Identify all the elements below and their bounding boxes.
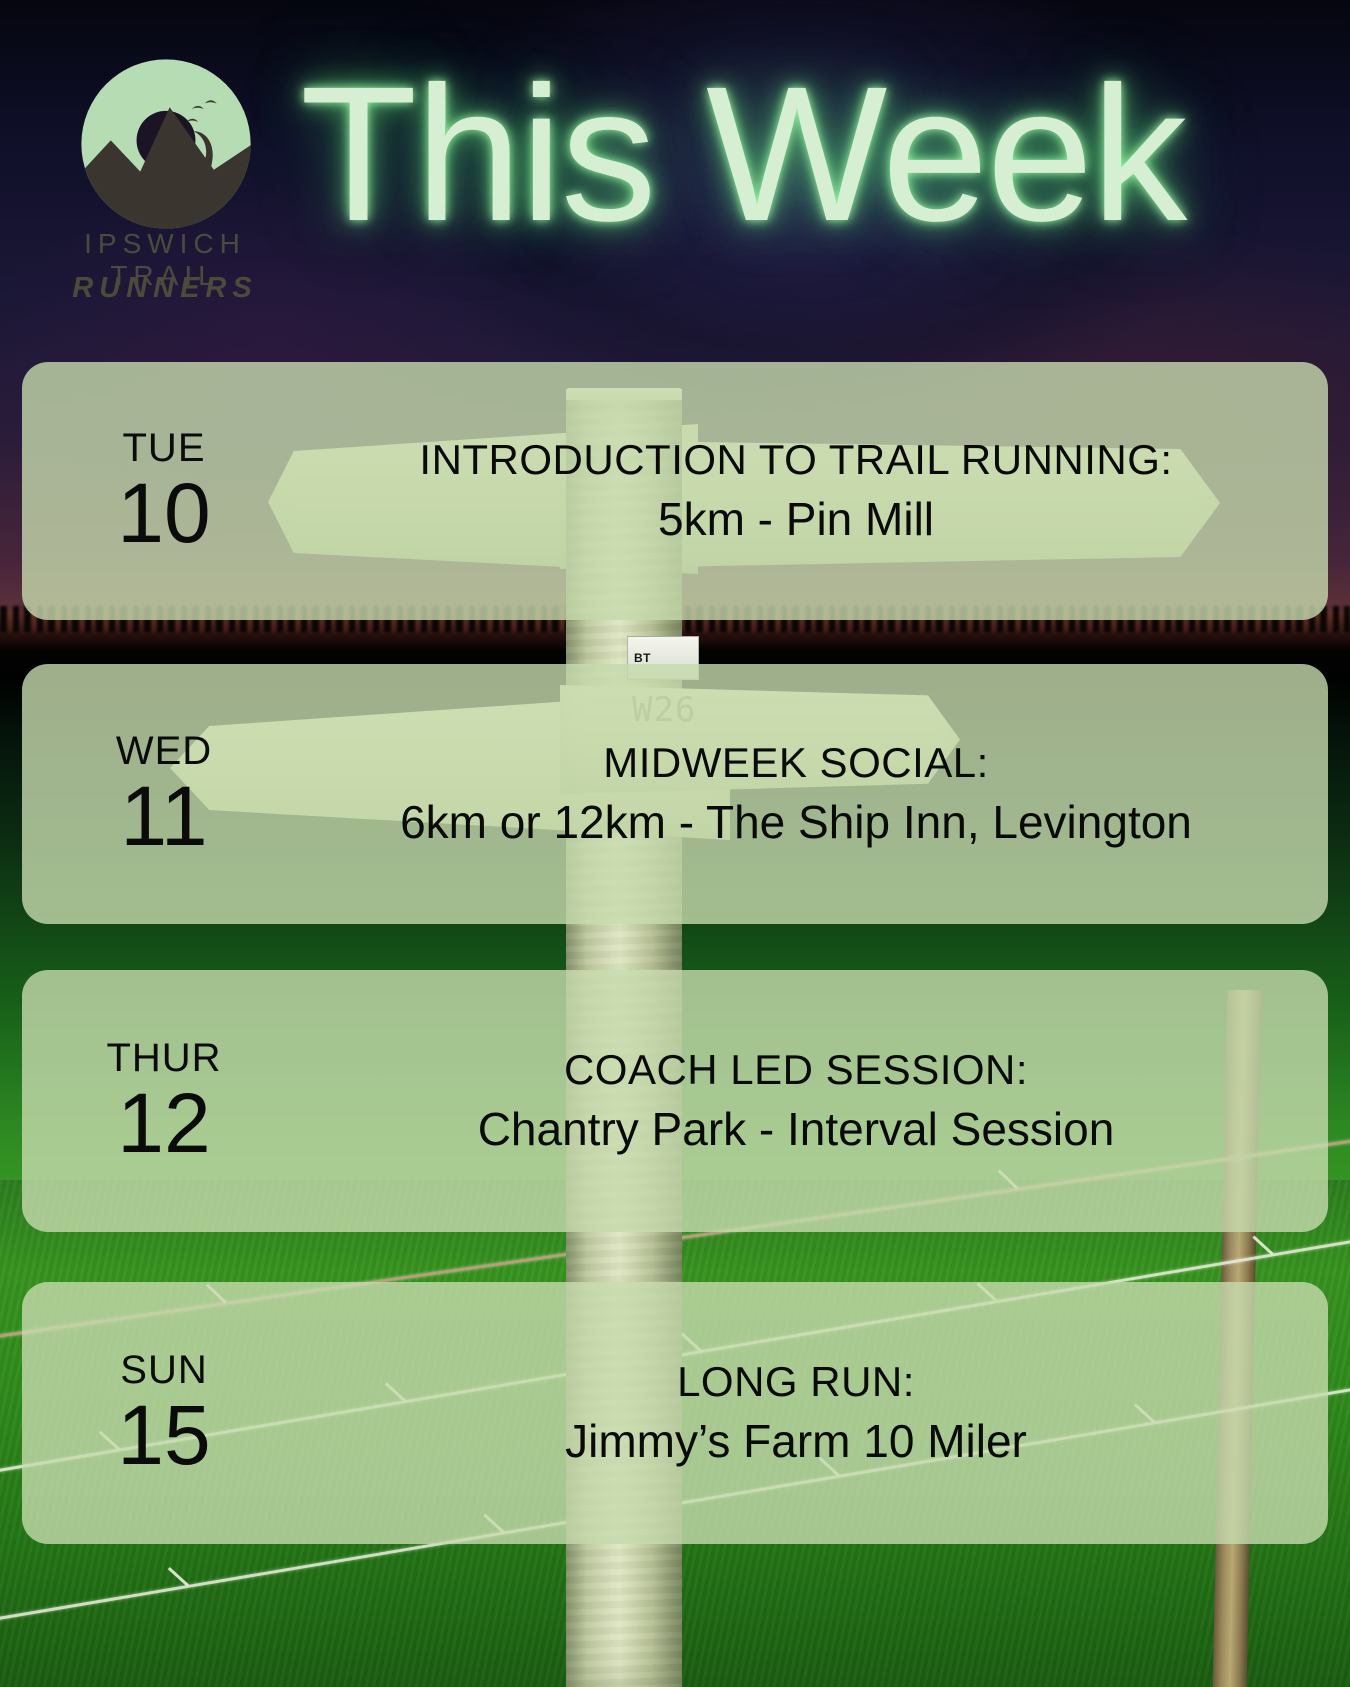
schedule-list: TUE 10 INTRODUCTION TO TRAIL RUNNING: 5k… [0, 0, 1350, 1687]
event-detail: Jimmy’s Farm 10 Miler [565, 1414, 1027, 1469]
day-number: 11 [120, 774, 207, 858]
event-detail: 6km or 12km - The Ship Inn, Levington [400, 795, 1192, 850]
day-number: 15 [117, 1393, 210, 1477]
schedule-card-wed[interactable]: WED 11 MIDWEEK SOCIAL: 6km or 12km - The… [22, 664, 1328, 924]
event-detail: Chantry Park - Interval Session [478, 1102, 1115, 1157]
date-column: TUE 10 [22, 427, 294, 555]
event-detail: 5km - Pin Mill [658, 492, 934, 547]
day-name: THUR [106, 1037, 221, 1079]
day-name: SUN [120, 1349, 207, 1391]
event-column: INTRODUCTION TO TRAIL RUNNING: 5km - Pin… [294, 435, 1328, 548]
day-name: WED [116, 730, 212, 772]
event-title: COACH LED SESSION: [564, 1045, 1028, 1095]
day-number: 10 [117, 471, 210, 555]
event-title: LONG RUN: [677, 1357, 915, 1407]
event-column: LONG RUN: Jimmy’s Farm 10 Miler [294, 1357, 1328, 1470]
this-week-poster: BT W26 [0, 0, 1350, 1687]
day-name: TUE [123, 427, 206, 469]
schedule-card-thur[interactable]: THUR 12 COACH LED SESSION: Chantry Park … [22, 970, 1328, 1232]
event-column: COACH LED SESSION: Chantry Park - Interv… [294, 1045, 1328, 1158]
event-title: INTRODUCTION TO TRAIL RUNNING: [419, 435, 1172, 485]
schedule-card-tue[interactable]: TUE 10 INTRODUCTION TO TRAIL RUNNING: 5k… [22, 362, 1328, 620]
event-title: MIDWEEK SOCIAL: [603, 738, 989, 788]
day-number: 12 [117, 1081, 210, 1165]
date-column: SUN 15 [22, 1349, 294, 1477]
date-column: WED 11 [22, 730, 294, 858]
schedule-card-sun[interactable]: SUN 15 LONG RUN: Jimmy’s Farm 10 Miler [22, 1282, 1328, 1544]
date-column: THUR 12 [22, 1037, 294, 1165]
event-column: MIDWEEK SOCIAL: 6km or 12km - The Ship I… [294, 738, 1328, 851]
